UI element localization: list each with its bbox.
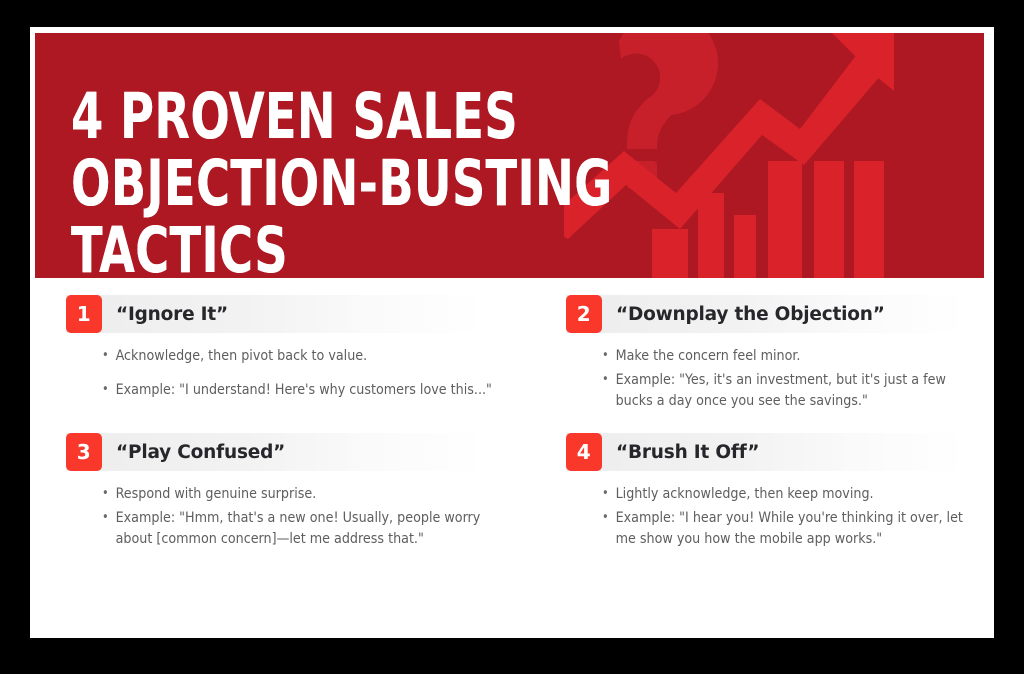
tactic-item-2: 2 “Downplay the Objection” Make the conc… <box>530 295 994 411</box>
tactic-number-badge-4: 4 <box>566 433 602 471</box>
list-item: Make the concern feel minor. <box>602 345 965 366</box>
tactic-title-2: “Downplay the Objection” <box>602 295 885 333</box>
list-item: Lightly acknowledge, then keep moving. <box>602 483 965 504</box>
tactic-header-1: 1 “Ignore It” <box>66 295 486 333</box>
tactic-bullets-3: Respond with genuine surprise. Example: … <box>66 483 512 549</box>
tactic-title-3: “Play Confused” <box>102 433 285 471</box>
tactic-header-3: 3 “Play Confused” <box>66 433 486 471</box>
tactic-bullets-2: Make the concern feel minor. Example: "Y… <box>566 345 976 411</box>
list-item: Example: "I hear you! While you're think… <box>602 507 965 549</box>
list-item: Acknowledge, then pivot back to value. <box>102 345 500 366</box>
list-item: Example: "Yes, it's an investment, but i… <box>602 369 965 411</box>
tactic-header-2: 2 “Downplay the Objection” <box>566 295 966 333</box>
header-banner: 4 Proven Sales Objection-Busting Tactics <box>35 33 984 278</box>
tactic-number-badge-1: 1 <box>66 295 102 333</box>
page-title: 4 Proven Sales Objection-Busting Tactics <box>71 83 752 278</box>
tactic-title-4: “Brush It Off” <box>602 433 759 471</box>
tactic-item-4: 4 “Brush It Off” Lightly acknowledge, th… <box>530 433 994 549</box>
tactic-item-1: 1 “Ignore It” Acknowledge, then pivot ba… <box>30 295 530 411</box>
tactic-item-3: 3 “Play Confused” Respond with genuine s… <box>30 433 530 549</box>
tactic-bullets-4: Lightly acknowledge, then keep moving. E… <box>566 483 976 549</box>
tactic-bullets-1: Acknowledge, then pivot back to value. E… <box>66 345 512 400</box>
tactic-title-1: “Ignore It” <box>102 295 228 333</box>
page-card: 4 Proven Sales Objection-Busting Tactics… <box>30 27 994 638</box>
tactic-header-4: 4 “Brush It Off” <box>566 433 966 471</box>
tactic-number-badge-2: 2 <box>566 295 602 333</box>
slide-root: 4 Proven Sales Objection-Busting Tactics… <box>0 0 1024 674</box>
list-item: Example: "Hmm, that's a new one! Usually… <box>102 507 500 549</box>
tactics-grid: 1 “Ignore It” Acknowledge, then pivot ba… <box>30 295 994 549</box>
list-item: Respond with genuine surprise. <box>102 483 500 504</box>
tactic-number-badge-3: 3 <box>66 433 102 471</box>
list-item: Example: "I understand! Here's why custo… <box>102 379 500 400</box>
